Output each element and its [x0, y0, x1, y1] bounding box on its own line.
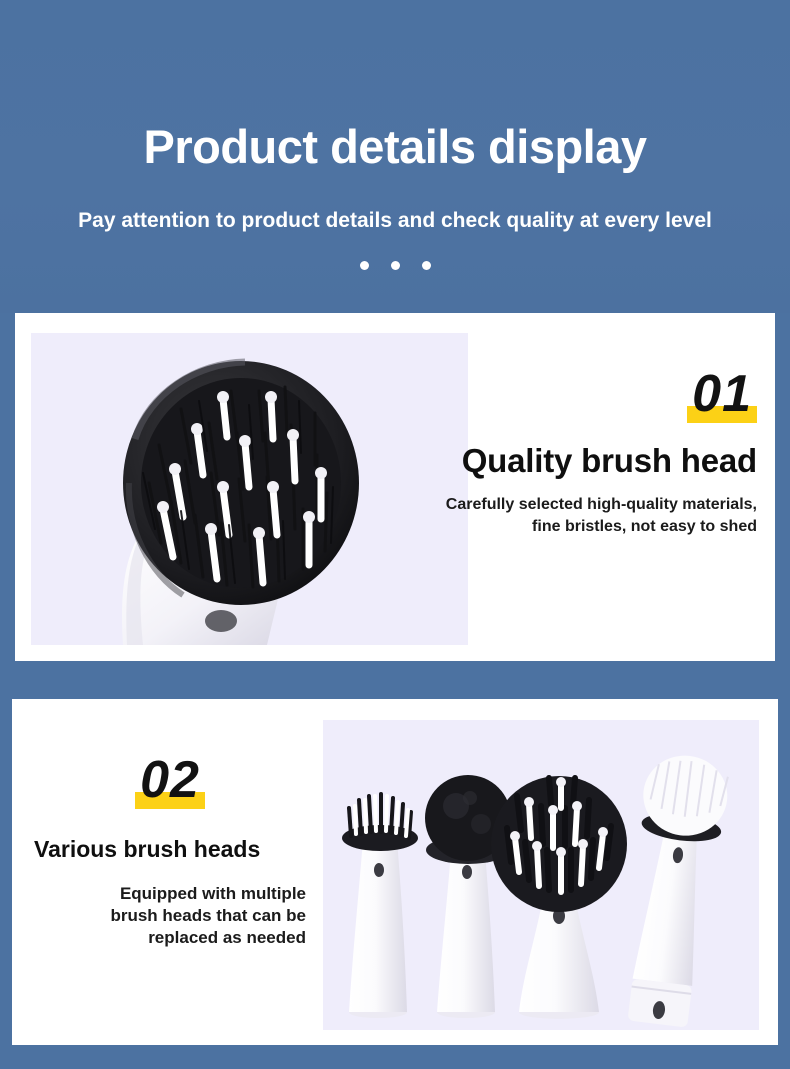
detail-card-01: 01 Quality brush head Carefully selected…: [15, 313, 775, 661]
card-02-description-line-1: Equipped with multiple: [34, 883, 306, 905]
card-02-description: Equipped with multiple brush heads that …: [34, 883, 306, 949]
card-01-heading: Quality brush head: [345, 442, 757, 480]
card-02-text-block: 02 Various brush heads Equipped with mul…: [34, 754, 306, 949]
card-02-number-row: 02: [34, 754, 306, 806]
dot-icon: [422, 261, 431, 270]
card-02-description-line-3: replaced as needed: [34, 927, 306, 949]
dot-icon: [391, 261, 400, 270]
card-02-heading: Various brush heads: [34, 836, 306, 863]
brush-head-1: [342, 794, 418, 1018]
page-subtitle: Pay attention to product details and che…: [0, 209, 790, 233]
card-02-description-line-2: brush heads that can be: [34, 905, 306, 927]
card-01-number: 01: [687, 365, 757, 423]
page-title: Product details display: [0, 122, 790, 171]
card-02-number-badge: 02: [135, 754, 205, 806]
card-01-text-block: 01 Quality brush head Carefully selected…: [345, 368, 757, 537]
card-01-description: Carefully selected high-quality material…: [345, 494, 757, 537]
brush-head-4: [616, 751, 732, 1029]
brush-head-3: [491, 776, 627, 1019]
card-01-description-line-1: Carefully selected high-quality material…: [345, 494, 757, 516]
brush-heads-illustration: [323, 720, 759, 1030]
dot-icon: [360, 261, 369, 270]
brush-head-2: [425, 775, 511, 1018]
card-01-number-badge: 01: [687, 368, 757, 420]
dot-separator: [0, 261, 790, 270]
card-01-description-line-2: fine bristles, not easy to shed: [345, 516, 757, 538]
card-02-number: 02: [135, 751, 205, 809]
detail-card-02: 02 Various brush heads Equipped with mul…: [12, 699, 778, 1045]
brush-heads-lineup-image: [323, 720, 759, 1030]
header-banner: Product details display Pay attention to…: [0, 0, 790, 313]
